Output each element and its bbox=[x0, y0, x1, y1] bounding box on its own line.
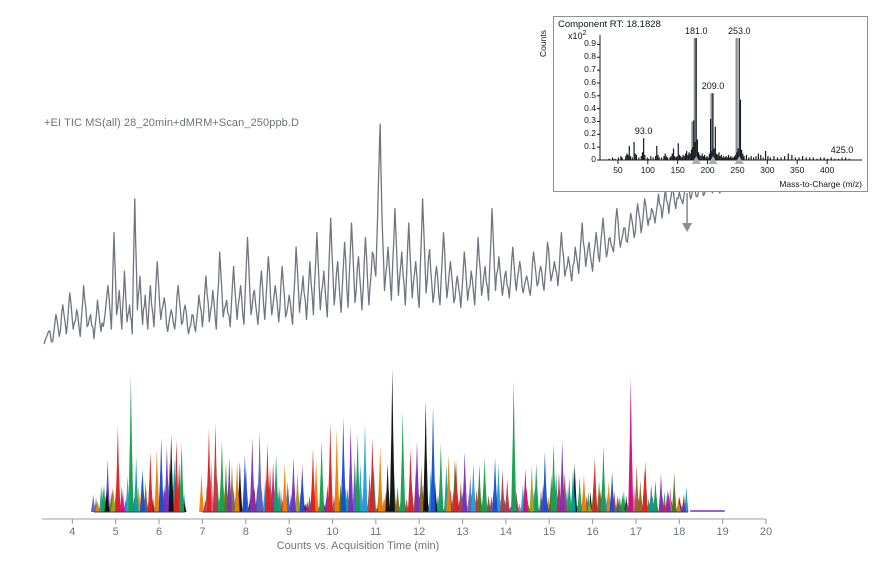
inset-x-axis-label: Mass-to-Charge (m/z) bbox=[779, 179, 862, 189]
chromatogram-figure: +EI TIC MS(all) 28_20min+dMRM+Scan_250pp… bbox=[0, 0, 884, 566]
mass-spectrum-inset-panel[interactable]: Component RT: 18.1828 Counts x102 00.10.… bbox=[553, 16, 868, 192]
inset-y-axis-label: Counts bbox=[538, 0, 548, 57]
inset-spectrum-canvas bbox=[554, 17, 867, 191]
